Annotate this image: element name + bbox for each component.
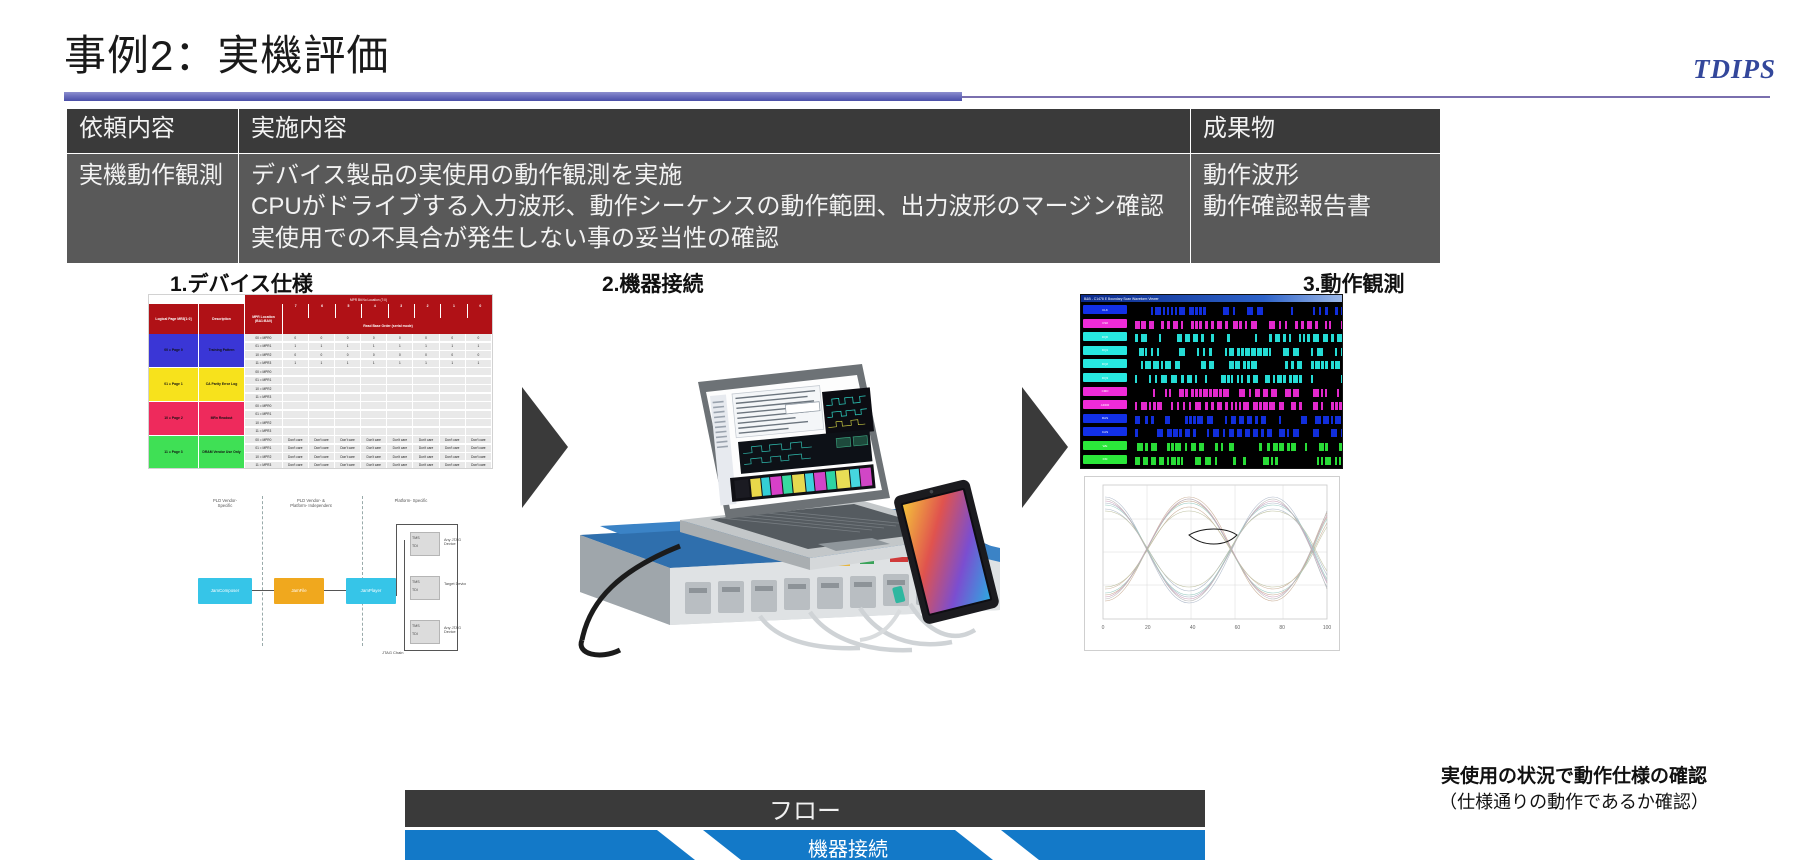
spec-bit-header-6: 6 [309, 304, 335, 318]
spec-cell: 1 [309, 343, 335, 350]
signal-trace-cmd [1133, 386, 1342, 397]
spec-cell: 0 [466, 334, 492, 341]
spec-cell [283, 394, 309, 401]
spec-cell: 1 [283, 360, 309, 367]
step-2-heading: 2.機器接続 [602, 268, 704, 298]
spec-cell [466, 419, 492, 426]
spec-header-0: Logical Page MR3[1:0] [149, 304, 199, 334]
spec-cell [361, 402, 387, 409]
spec-cell [413, 402, 439, 409]
spec-bit-header-0: 0 [468, 304, 493, 318]
spec-mpr-location: 11 = MPR3 [245, 360, 283, 367]
spec-cell: Don't care [335, 462, 361, 469]
logic-analyzer-capture: B&B - C1478 E Boundary Scan Waveform Vie… [1080, 294, 1343, 469]
spec-cell: 1 [335, 343, 361, 350]
logic-analyzer-row: RAS [1081, 413, 1342, 425]
signal-label-dm[interactable]: DM [1083, 455, 1127, 464]
spec-cell [413, 368, 439, 375]
spec-group-1: 01 = Page 1CA Parity Error Log [149, 368, 245, 402]
spec-mpr-location: 11 = MPR3 [245, 394, 283, 401]
spec-cell: Don't care [335, 436, 361, 443]
spec-cell: Don't care [466, 453, 492, 460]
spec-cell: 0 [413, 334, 439, 341]
spec-cell: Don't care [283, 436, 309, 443]
spec-cell: Don't care [413, 436, 439, 443]
spec-group-desc-0: Training Pattern [199, 334, 245, 367]
spec-group-3: 11 = Page 3DRAM Vendor Use Only [149, 436, 245, 469]
logic-analyzer-row: DQ2 [1081, 358, 1342, 370]
spec-cell: 1 [283, 343, 309, 350]
spec-cell: Don't care [413, 445, 439, 452]
spec-cell: 1 [413, 360, 439, 367]
spec-group-0: 00 = Page 0Training Pattern [149, 334, 245, 368]
signal-label-cas[interactable]: CAS [1083, 427, 1127, 436]
spec-cell [309, 394, 335, 401]
spec-cell: 1 [413, 343, 439, 350]
spec-mpr-location: 00 = MPR0 [245, 334, 283, 341]
deliverable-line-2: 動作確認報告書 [1203, 191, 1430, 223]
jtag-pin-tms-0: TMS [412, 536, 420, 540]
signal-trace-dq2 [1133, 358, 1342, 369]
signal-label-dq1[interactable]: DQ1 [1083, 346, 1127, 355]
spec-data-row: 01 = MPR1Don't careDon't careDon't careD… [245, 445, 492, 453]
spec-cell: 1 [440, 343, 466, 350]
spec-cell [387, 419, 413, 426]
spec-cell: Don't care [361, 436, 387, 443]
jtag-wire-2 [324, 590, 346, 591]
spec-cell [413, 394, 439, 401]
spec-cell [309, 411, 335, 418]
spec-group-page-2: 10 = Page 2 [149, 402, 199, 435]
jtag-col-label-1: PLD Vendor-Specific [194, 498, 256, 509]
step-2-content [560, 320, 1020, 660]
spec-cell [413, 377, 439, 384]
logic-analyzer-row: ADDR [1081, 399, 1342, 411]
spec-bit-header-7: 7 [283, 304, 309, 318]
work-line-3: 実使用での不具合が発生しない事の妥当性の確認 [251, 223, 1180, 255]
spec-bit-header-3: 3 [389, 304, 415, 318]
spec-cell [413, 428, 439, 435]
spec-cell: 1 [335, 360, 361, 367]
flow-step-3[interactable] [1001, 830, 1205, 860]
eye-x-tick: 20 [1145, 625, 1151, 631]
spec-cell [309, 368, 335, 375]
cell-request: 実機動作観測 [67, 153, 239, 263]
note-line-1: 実使用の状況で動作仕様の確認 [1364, 764, 1784, 790]
conclusion-note: 実使用の状況で動作仕様の確認 （仕様通りの動作であるか確認） [1364, 764, 1784, 814]
spec-cell: Don't care [309, 462, 335, 469]
spec-cell [413, 385, 439, 392]
spec-cell: Don't care [387, 445, 413, 452]
jtag-device-label-2: Any JTAG Device [444, 626, 466, 634]
eye-x-tick: 80 [1279, 625, 1285, 631]
spec-cell [309, 402, 335, 409]
spec-cell [283, 402, 309, 409]
signal-label-dq2[interactable]: DQ2 [1083, 359, 1127, 368]
summary-table: 依頼内容 実施内容 成果物 実機動作観測 デバイス製品の実使用の動作観測を実施 … [66, 108, 1441, 264]
spec-data-row: 11 = MPR3 [245, 428, 492, 436]
spec-cell: 0 [309, 334, 335, 341]
spec-cell: 0 [440, 334, 466, 341]
spec-cell [440, 394, 466, 401]
eye-x-tick: 60 [1235, 625, 1241, 631]
spec-data-row: 11 = MPR311111111 [245, 360, 492, 368]
spec-cell: Don't care [335, 453, 361, 460]
signal-trace-clk [1133, 304, 1342, 315]
spec-data-row: 00 = MPR0 [245, 402, 492, 410]
page-title: 事例2：実機評価 [64, 22, 389, 83]
logic-analyzer-window-title: B&B - C1478 E Boundary Scan Waveform Vie… [1081, 295, 1342, 302]
spec-mpr-location: 01 = MPR1 [245, 445, 283, 452]
spec-cell [440, 428, 466, 435]
jtag-wire-1 [252, 590, 274, 591]
jtag-pin-tms-2: TMS [412, 624, 420, 628]
work-line-2: CPUがドライブする入力波形、動作シーケンスの動作範囲、出力波形のマージン確認 [251, 191, 1180, 223]
jtag-col-label-3: Platform- Specific [372, 498, 450, 503]
spec-cell: 0 [413, 351, 439, 358]
spec-cell [335, 428, 361, 435]
jtag-pin-tdi-2: TDI [412, 632, 418, 636]
spec-cell [361, 419, 387, 426]
jtag-flow-diagram: PLD Vendor-Specific PLD Vendor- &Platfor… [186, 484, 466, 660]
spec-cell: Don't care [466, 436, 492, 443]
spec-data-row: 10 = MPR2 [245, 385, 492, 393]
jtag-box-composer: JamComposer [198, 578, 252, 604]
spec-bit-header-2: 2 [415, 304, 441, 318]
spec-data-row: 11 = MPR3Don't careDon't careDon't careD… [245, 462, 492, 470]
signal-label-clk[interactable]: CLK [1083, 305, 1127, 314]
spec-cell [466, 385, 492, 392]
spec-mpr-location: 10 = MPR2 [245, 419, 283, 426]
spec-caption: MPR Bit No Location (7:0) [245, 295, 492, 304]
spec-cell [283, 419, 309, 426]
logic-analyzer-row: DQ0 [1081, 331, 1342, 343]
spec-header-1: Description [199, 304, 245, 334]
spec-cell [361, 411, 387, 418]
jtag-device-label-0: Any JTAG Device [444, 538, 466, 546]
spec-cell [283, 411, 309, 418]
spec-cell: 0 [387, 351, 413, 358]
spec-mpr-location: 00 = MPR0 [245, 402, 283, 409]
spec-cell [387, 402, 413, 409]
jtag-pin-tms-1: TMS [412, 580, 420, 584]
spec-group-desc-2: MRn Readout [199, 402, 245, 435]
spec-data-row: 00 = MPR0 [245, 368, 492, 376]
title-divider [64, 92, 1770, 101]
spec-mpr-location: 11 = MPR3 [245, 428, 283, 435]
spec-data-row: 10 = MPR2Don't careDon't careDon't careD… [245, 453, 492, 461]
slide-root: 事例2：実機評価 TDIPS 依頼内容 実施内容 成果物 実機動作観測 デバイス… [0, 0, 1800, 860]
spec-cell: Don't care [387, 453, 413, 460]
spec-cell [309, 385, 335, 392]
signal-trace-addr [1133, 399, 1342, 410]
spec-cell [283, 385, 309, 392]
work-line-1: デバイス製品の実使用の動作観測を実施 [251, 160, 1180, 192]
spec-cell [361, 428, 387, 435]
spec-cell [283, 377, 309, 384]
spec-cell: 0 [387, 334, 413, 341]
spec-cell: 0 [361, 351, 387, 358]
spec-cell [309, 377, 335, 384]
spec-group-page-3: 11 = Page 3 [149, 436, 199, 469]
logic-analyzer-row: CS# [1081, 318, 1342, 330]
table-row: 実機動作観測 デバイス製品の実使用の動作観測を実施 CPUがドライブする入力波形… [67, 153, 1441, 263]
spec-group-page-1: 01 = Page 1 [149, 368, 199, 401]
spec-mpr-location: 01 = MPR1 [245, 411, 283, 418]
spec-cell [466, 411, 492, 418]
spec-cell: Don't care [335, 445, 361, 452]
signal-label-cmd[interactable]: CMD [1083, 387, 1127, 396]
spec-mpr-location: 01 = MPR1 [245, 377, 283, 384]
spec-cell [309, 419, 335, 426]
spec-cell: 0 [466, 351, 492, 358]
signal-trace-cs [1133, 318, 1342, 329]
spec-cell: Don't care [309, 445, 335, 452]
jtag-bus-mid [404, 540, 405, 650]
eye-diagram-capture: 020406080100 [1084, 476, 1340, 651]
spec-cell: Don't care [283, 453, 309, 460]
signal-trace-we [1133, 440, 1342, 451]
logic-analyzer-row: WE [1081, 440, 1342, 452]
jtag-bus-left [396, 524, 397, 596]
table-header-row: 依頼内容 実施内容 成果物 [67, 109, 1441, 154]
signal-trace-dq1 [1133, 345, 1342, 356]
spec-cell: 0 [361, 334, 387, 341]
spec-cell: Don't care [440, 462, 466, 469]
spec-cell: Don't care [309, 436, 335, 443]
spec-cell [413, 419, 439, 426]
spec-cell [440, 411, 466, 418]
signal-trace-dq3 [1133, 372, 1342, 383]
spec-cell [387, 385, 413, 392]
spec-cell: Don't care [387, 436, 413, 443]
spec-cell [387, 368, 413, 375]
spec-mpr-location: 00 = MPR0 [245, 436, 283, 443]
spec-cell: 1 [466, 343, 492, 350]
spec-cell [283, 428, 309, 435]
spec-cell: Don't care [466, 462, 492, 469]
jtag-pin-tdi-1: TDI [412, 588, 418, 592]
flow-step-2[interactable]: 機器接続 [703, 830, 993, 860]
spec-cell [387, 394, 413, 401]
jtag-bus-bottom [404, 650, 458, 651]
cell-work: デバイス製品の実使用の動作観測を実施 CPUがドライブする入力波形、動作シーケン… [239, 153, 1191, 263]
jtag-box-jamfile: JamFile [274, 578, 324, 604]
arrow-step2-to-step3-icon [1020, 385, 1070, 510]
spec-cell [440, 377, 466, 384]
spec-data-row: 10 = MPR200000000 [245, 351, 492, 359]
eye-x-tick: 40 [1190, 625, 1196, 631]
spec-bit-header-1: 1 [441, 304, 467, 318]
logic-analyzer-row: CAS [1081, 426, 1342, 438]
jtag-pin-tdi-0: TDI [412, 544, 418, 548]
spec-cell [387, 377, 413, 384]
col-header-deliverable: 成果物 [1191, 109, 1441, 154]
spec-cell: 1 [387, 343, 413, 350]
spec-cell: Don't care [283, 445, 309, 452]
spec-cell: Don't care [440, 445, 466, 452]
spec-subheader: Read Base Order (serial mode) [283, 318, 493, 334]
flow-diagram: フロー 機器接続 [405, 790, 1205, 860]
spec-mpr-location: 10 = MPR2 [245, 453, 283, 460]
spec-cell [387, 428, 413, 435]
spec-bit-header-4: 4 [362, 304, 388, 318]
eye-diagram-plot: 020406080100 [1085, 477, 1339, 650]
deliverable-line-1: 動作波形 [1203, 160, 1430, 192]
spec-mpr-location: 10 = MPR2 [245, 351, 283, 358]
cell-deliverable: 動作波形 動作確認報告書 [1191, 153, 1441, 263]
spec-cell [335, 377, 361, 384]
spec-cell [387, 411, 413, 418]
note-line-2: （仕様通りの動作であるか確認） [1364, 790, 1784, 814]
spec-data-row: 00 = MPR000000000 [245, 334, 492, 342]
spec-cell: 1 [440, 360, 466, 367]
jtag-divider-1 [262, 496, 263, 646]
spec-cell [361, 394, 387, 401]
jtag-divider-2 [362, 496, 363, 646]
spec-cell: Don't care [283, 462, 309, 469]
spec-data-row: 01 = MPR1 [245, 411, 492, 419]
spec-cell: 0 [309, 351, 335, 358]
jtag-col-label-2: PLD Vendor- &Platform- Independent [268, 498, 354, 509]
spec-cell: Don't care [361, 445, 387, 452]
spec-cell: 1 [361, 343, 387, 350]
spec-cell: Don't care [361, 453, 387, 460]
spec-cell [440, 402, 466, 409]
spec-cell: 0 [335, 334, 361, 341]
spec-data-row: 01 = MPR1 [245, 377, 492, 385]
spec-cell: Don't care [387, 462, 413, 469]
signal-label-dq3[interactable]: DQ3 [1083, 373, 1127, 382]
flow-step-1[interactable] [405, 830, 695, 860]
equipment-photo [560, 320, 1020, 660]
eye-x-tick: 0 [1102, 625, 1105, 631]
spec-cell [440, 368, 466, 375]
logic-analyzer-row: CMD [1081, 386, 1342, 398]
signal-trace-cas [1133, 426, 1342, 437]
signal-label-we[interactable]: WE [1083, 441, 1127, 450]
jtag-box-player: JamPlayer [346, 578, 396, 604]
spec-cell: Don't care [309, 453, 335, 460]
step-1-content: MPR Bit No Location (7:0) Logical Page M… [148, 294, 498, 664]
device-spec-table-image: MPR Bit No Location (7:0) Logical Page M… [148, 294, 493, 469]
spec-group-page-0: 00 = Page 0 [149, 334, 199, 367]
spec-cell: 0 [440, 351, 466, 358]
spec-cell: 1 [361, 360, 387, 367]
spec-data-row: 00 = MPR0Don't careDon't careDon't careD… [245, 436, 492, 444]
spec-cell [466, 368, 492, 375]
spec-cell: 0 [283, 334, 309, 341]
flow-step-2-label: 機器接続 [703, 833, 993, 860]
signal-label-addr[interactable]: ADDR [1083, 400, 1127, 409]
brand-logo: TDIPS [1693, 54, 1776, 85]
spec-cell: 1 [466, 360, 492, 367]
signal-trace-dm [1133, 454, 1342, 465]
spec-cell: Don't care [440, 453, 466, 460]
jtag-bus-top [396, 524, 458, 525]
spec-cell [309, 428, 335, 435]
col-header-work: 実施内容 [239, 109, 1191, 154]
spec-cell [335, 419, 361, 426]
logic-analyzer-row: DM [1081, 454, 1342, 466]
spec-mpr-location: 01 = MPR1 [245, 343, 283, 350]
spec-cell [335, 385, 361, 392]
spec-mpr-location: 11 = MPR3 [245, 462, 283, 469]
step-3-content: B&B - C1478 E Boundary Scan Waveform Vie… [1080, 294, 1380, 654]
spec-header-2: MPR Location (BA1:BA0) [245, 304, 283, 334]
spec-cell [440, 419, 466, 426]
spec-cell [335, 368, 361, 375]
title-divider-left [64, 92, 962, 101]
signal-label-cs[interactable]: CS# [1083, 319, 1127, 328]
title-divider-right [962, 96, 1770, 98]
jtag-chain-label: JTAG Chain [382, 650, 404, 655]
spec-cell: Don't care [466, 445, 492, 452]
spec-group-desc-1: CA Parity Error Log [199, 368, 245, 401]
signal-trace-dq0 [1133, 331, 1342, 342]
spec-mpr-location: 10 = MPR2 [245, 385, 283, 392]
spec-cell [335, 411, 361, 418]
signal-label-dq0[interactable]: DQ0 [1083, 332, 1127, 341]
spec-group-desc-3: DRAM Vendor Use Only [199, 436, 245, 469]
spec-cell: 1 [387, 360, 413, 367]
spec-mpr-location: 00 = MPR0 [245, 368, 283, 375]
spec-cell: Don't care [361, 462, 387, 469]
spec-cell: 0 [335, 351, 361, 358]
spec-cell [466, 394, 492, 401]
logic-analyzer-row: DQ1 [1081, 345, 1342, 357]
flow-header: フロー [405, 790, 1205, 827]
spec-data-row: 01 = MPR111111111 [245, 343, 492, 351]
spec-cell: Don't care [440, 436, 466, 443]
spec-cell [361, 368, 387, 375]
spec-cell [413, 411, 439, 418]
spec-cell: Don't care [413, 453, 439, 460]
spec-cell [283, 368, 309, 375]
spec-cell: 1 [309, 360, 335, 367]
spec-cell [335, 402, 361, 409]
spec-cell [466, 377, 492, 384]
jtag-device-label-1: Target Device [444, 582, 466, 586]
signal-label-ras[interactable]: RAS [1083, 414, 1127, 423]
col-header-request: 依頼内容 [67, 109, 239, 154]
spec-cell: Don't care [413, 462, 439, 469]
spec-data-row: 11 = MPR3 [245, 394, 492, 402]
spec-cell [466, 402, 492, 409]
spec-bit-header-5: 5 [336, 304, 362, 318]
eye-x-tick: 100 [1323, 625, 1332, 631]
spec-cell [466, 428, 492, 435]
signal-trace-ras [1133, 413, 1342, 424]
spec-cell: 0 [283, 351, 309, 358]
flow-steps: 機器接続 [405, 830, 1205, 860]
spec-cell [440, 385, 466, 392]
spec-cell [361, 385, 387, 392]
spec-group-2: 10 = Page 2MRn Readout [149, 402, 245, 436]
spec-data-row: 10 = MPR2 [245, 419, 492, 427]
spec-cell [361, 377, 387, 384]
spec-cell [335, 394, 361, 401]
logic-analyzer-row: DQ3 [1081, 372, 1342, 384]
logic-analyzer-row: CLK [1081, 304, 1342, 316]
